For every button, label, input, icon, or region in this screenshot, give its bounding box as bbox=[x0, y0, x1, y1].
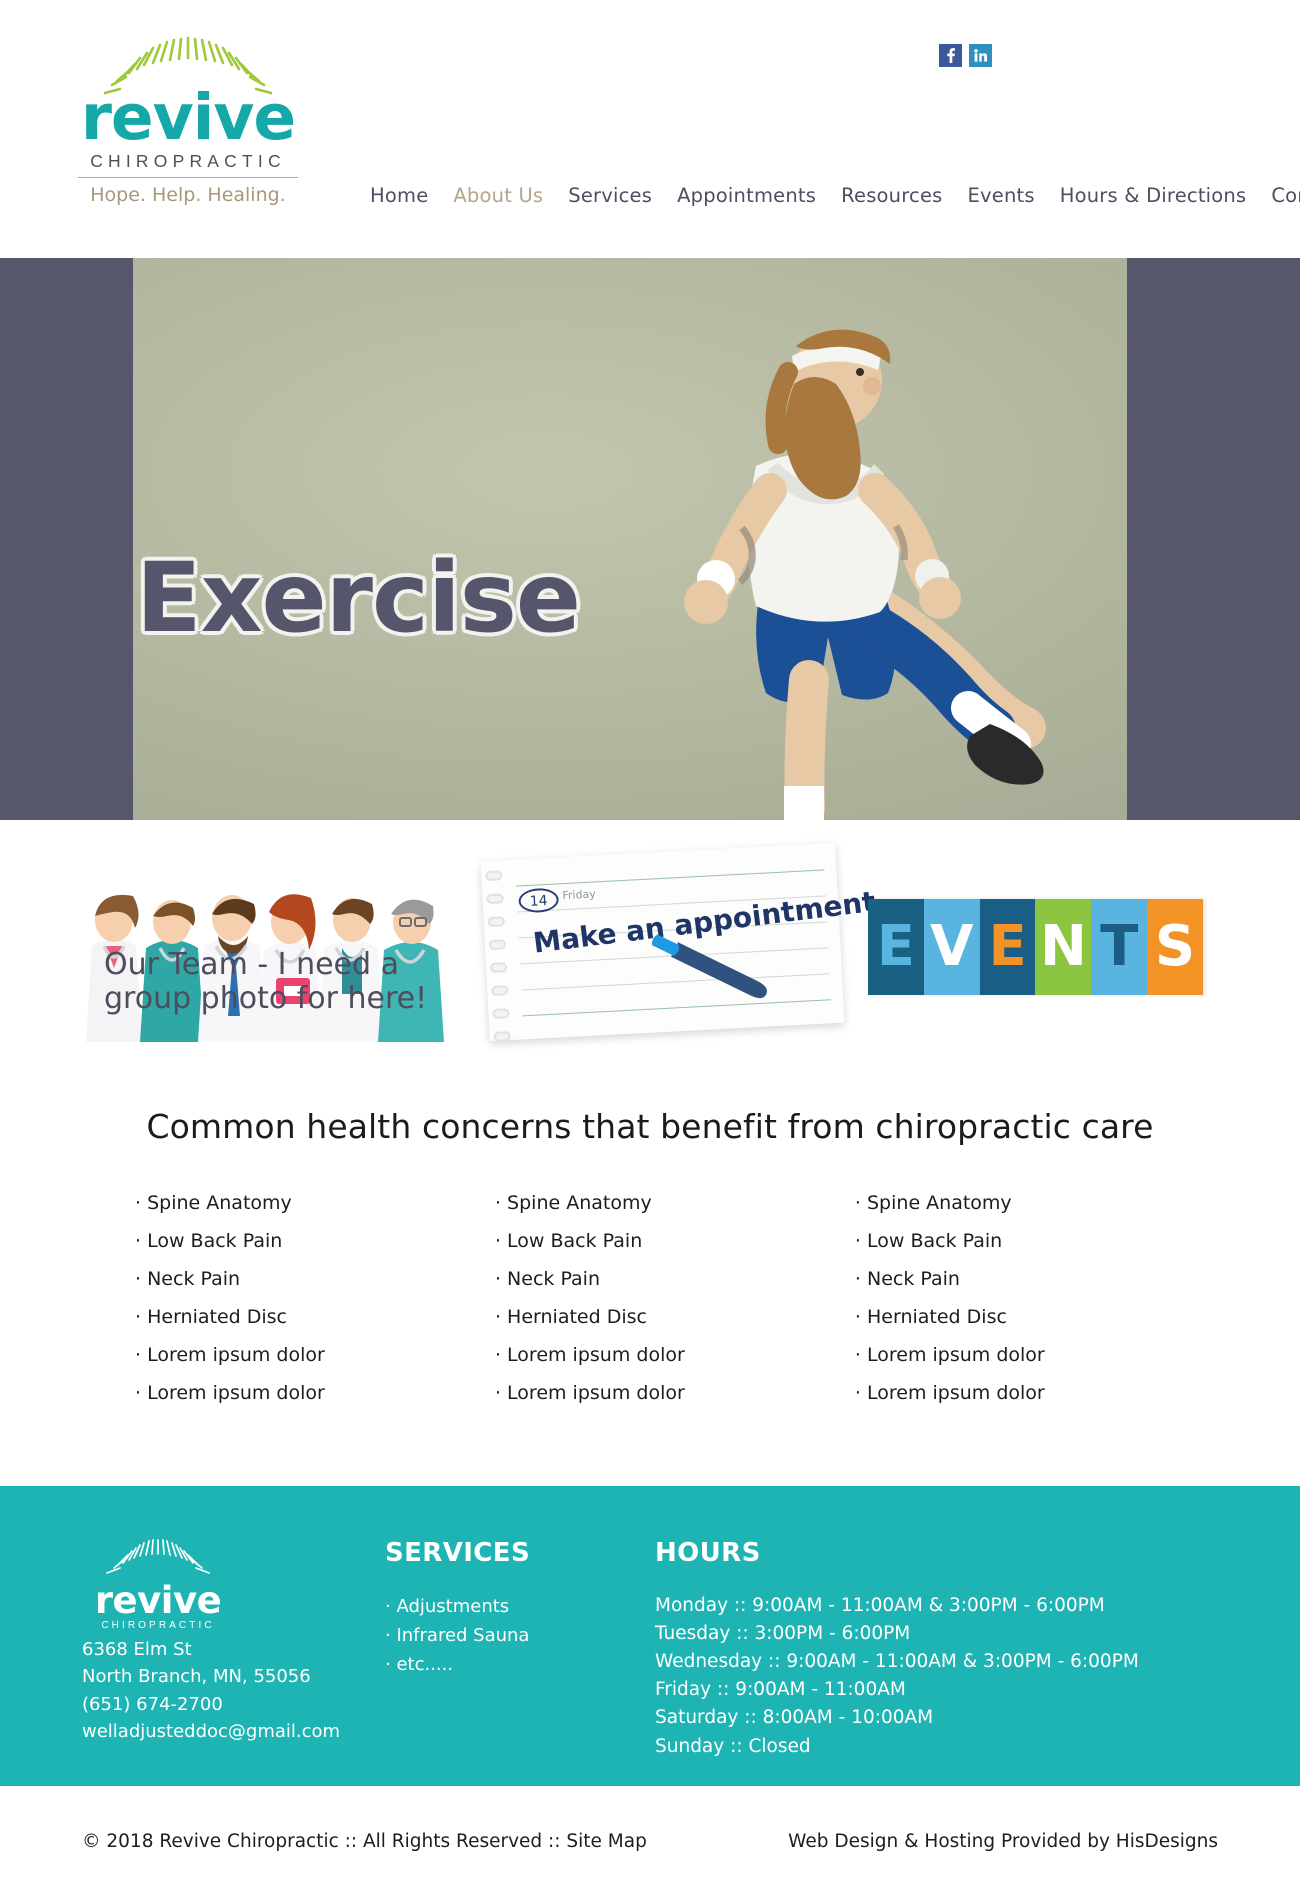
hours-row: Wednesday :: 9:00AM - 11:00AM & 3:00PM -… bbox=[655, 1648, 1215, 1676]
site-footer: revive CHIROPRACTIC 6368 Elm St North Br… bbox=[0, 1486, 1300, 1786]
nav-item-appointments[interactable]: Appointments bbox=[677, 184, 816, 207]
list-item[interactable]: Neck Pain bbox=[855, 1268, 1215, 1290]
events-letter-4: N bbox=[1035, 899, 1091, 995]
events-letter-1: E bbox=[868, 899, 924, 995]
hours-row: Monday :: 9:00AM - 11:00AM & 3:00PM - 6:… bbox=[655, 1592, 1215, 1620]
concerns-columns: Spine Anatomy Low Back Pain Neck Pain He… bbox=[85, 1192, 1215, 1420]
note-day: Friday bbox=[562, 887, 596, 902]
footer-hours-heading: HOURS bbox=[655, 1538, 1215, 1568]
events-letter-3: E bbox=[980, 899, 1036, 995]
list-item[interactable]: Lorem ipsum dolor bbox=[135, 1382, 495, 1404]
concerns-section: Common health concerns that benefit from… bbox=[0, 1085, 1300, 1486]
list-item[interactable]: Lorem ipsum dolor bbox=[495, 1344, 855, 1366]
events-letters: E V E N T S bbox=[868, 885, 1203, 995]
sunburst-icon bbox=[78, 36, 298, 96]
nav-item-about-us[interactable]: About Us bbox=[453, 184, 543, 207]
footer-hours-column: HOURS Monday :: 9:00AM - 11:00AM & 3:00P… bbox=[655, 1538, 1215, 1761]
concerns-column-3: Spine Anatomy Low Back Pain Neck Pain He… bbox=[855, 1192, 1215, 1420]
footer-hours-list: Monday :: 9:00AM - 11:00AM & 3:00PM - 6:… bbox=[655, 1592, 1215, 1761]
hours-row: Friday :: 9:00AM - 11:00AM bbox=[655, 1676, 1215, 1704]
footer-services-column: SERVICES Adjustments Infrared Sauna etc.… bbox=[385, 1538, 635, 1679]
list-item[interactable]: Low Back Pain bbox=[855, 1230, 1215, 1252]
list-item[interactable]: Neck Pain bbox=[135, 1268, 495, 1290]
team-overlay-note: Our Team - I need a group photo for here… bbox=[104, 948, 434, 1015]
nav-item-home[interactable]: Home bbox=[370, 184, 428, 207]
runner-image bbox=[520, 276, 1080, 820]
logo-wordmark: revive bbox=[78, 92, 298, 144]
credit-text[interactable]: Web Design & Hosting Provided by HisDesi… bbox=[788, 1831, 1218, 1852]
list-item[interactable]: Lorem ipsum dolor bbox=[135, 1344, 495, 1366]
copyright-bar: © 2018 Revive Chiropractic :: All Rights… bbox=[0, 1786, 1300, 1896]
list-item[interactable]: Herniated Disc bbox=[855, 1306, 1215, 1328]
list-item[interactable]: Lorem ipsum dolor bbox=[855, 1382, 1215, 1404]
list-item[interactable]: Spine Anatomy bbox=[135, 1192, 495, 1214]
events-tile[interactable]: E V E N T S bbox=[868, 885, 1203, 995]
footer-logo-subtitle: CHIROPRACTIC bbox=[78, 1620, 238, 1631]
events-letter-6: S bbox=[1147, 899, 1203, 995]
site-header: revive CHIROPRACTIC Hope. Help. Healing.… bbox=[0, 0, 1300, 258]
nav-item-services[interactable]: Services bbox=[568, 184, 652, 207]
logo-tagline: Hope. Help. Healing. bbox=[78, 184, 298, 206]
page-root: revive CHIROPRACTIC Hope. Help. Healing.… bbox=[0, 0, 1300, 1896]
nav-item-resources[interactable]: Resources bbox=[841, 184, 942, 207]
hours-row: Sunday :: Closed bbox=[655, 1733, 1215, 1761]
list-item[interactable]: Herniated Disc bbox=[135, 1306, 495, 1328]
social-links bbox=[939, 44, 992, 67]
list-item[interactable]: Adjustments bbox=[385, 1592, 635, 1621]
footer-address-line1: 6368 Elm St bbox=[82, 1636, 340, 1663]
list-item[interactable]: Neck Pain bbox=[495, 1268, 855, 1290]
linkedin-icon[interactable] bbox=[969, 44, 992, 67]
footer-contact-info: 6368 Elm St North Branch, MN, 55056 (651… bbox=[82, 1636, 340, 1745]
nav-item-events[interactable]: Events bbox=[968, 184, 1035, 207]
footer-address-line2: North Branch, MN, 55056 bbox=[82, 1663, 340, 1690]
list-item[interactable]: etc..... bbox=[385, 1650, 635, 1679]
hero-title: Exercise bbox=[136, 550, 580, 646]
hero-left-curve bbox=[0, 258, 133, 820]
nav-item-hours-directions[interactable]: Hours & Directions bbox=[1060, 184, 1247, 207]
facebook-icon[interactable] bbox=[939, 44, 962, 67]
team-tile[interactable]: Our Team - I need a group photo for here… bbox=[78, 850, 448, 1050]
main-navigation[interactable]: Home About Us Services Appointments Reso… bbox=[370, 184, 1300, 207]
footer-logo-wordmark: revive bbox=[78, 1585, 238, 1616]
footer-email[interactable]: welladjusteddoc@gmail.com bbox=[82, 1718, 340, 1745]
site-logo[interactable]: revive CHIROPRACTIC Hope. Help. Healing. bbox=[78, 36, 298, 206]
concerns-column-1: Spine Anatomy Low Back Pain Neck Pain He… bbox=[135, 1192, 495, 1420]
team-overlay-line1: Our Team - I need a bbox=[104, 948, 434, 982]
concerns-column-2: Spine Anatomy Low Back Pain Neck Pain He… bbox=[495, 1192, 855, 1420]
hero-banner: Exercise bbox=[0, 258, 1300, 820]
list-item[interactable]: Spine Anatomy bbox=[495, 1192, 855, 1214]
hours-row: Saturday :: 8:00AM - 10:00AM bbox=[655, 1704, 1215, 1732]
list-item[interactable]: Infrared Sauna bbox=[385, 1621, 635, 1650]
list-item[interactable]: Low Back Pain bbox=[135, 1230, 495, 1252]
logo-subtitle: CHIROPRACTIC bbox=[78, 151, 298, 178]
list-item[interactable]: Lorem ipsum dolor bbox=[855, 1344, 1215, 1366]
copyright-text[interactable]: © 2018 Revive Chiropractic :: All Rights… bbox=[82, 1831, 647, 1852]
hours-row: Tuesday :: 3:00PM - 6:00PM bbox=[655, 1620, 1215, 1648]
list-item[interactable]: Lorem ipsum dolor bbox=[495, 1382, 855, 1404]
footer-sunburst-icon bbox=[98, 1538, 218, 1580]
footer-services-list: Adjustments Infrared Sauna etc..... bbox=[385, 1592, 635, 1679]
feature-tiles: Our Team - I need a group photo for here… bbox=[0, 820, 1300, 1085]
hero-right-curve bbox=[1127, 258, 1300, 820]
concerns-heading: Common health concerns that benefit from… bbox=[0, 1107, 1300, 1146]
footer-services-heading: SERVICES bbox=[385, 1538, 635, 1568]
events-letter-5: T bbox=[1091, 899, 1147, 995]
team-overlay-line2: group photo for here! bbox=[104, 982, 434, 1016]
footer-phone[interactable]: (651) 674-2700 bbox=[82, 1691, 340, 1718]
list-item[interactable]: Low Back Pain bbox=[495, 1230, 855, 1252]
events-letter-2: V bbox=[924, 899, 980, 995]
appointment-tile[interactable]: 14 Friday Make an appointment bbox=[485, 852, 840, 1032]
footer-logo[interactable]: revive CHIROPRACTIC bbox=[78, 1538, 238, 1631]
list-item[interactable]: Herniated Disc bbox=[495, 1306, 855, 1328]
nav-item-contact-us[interactable]: Contact Us bbox=[1271, 184, 1300, 207]
list-item[interactable]: Spine Anatomy bbox=[855, 1192, 1215, 1214]
appointment-note: 14 Friday Make an appointment bbox=[481, 843, 845, 1041]
